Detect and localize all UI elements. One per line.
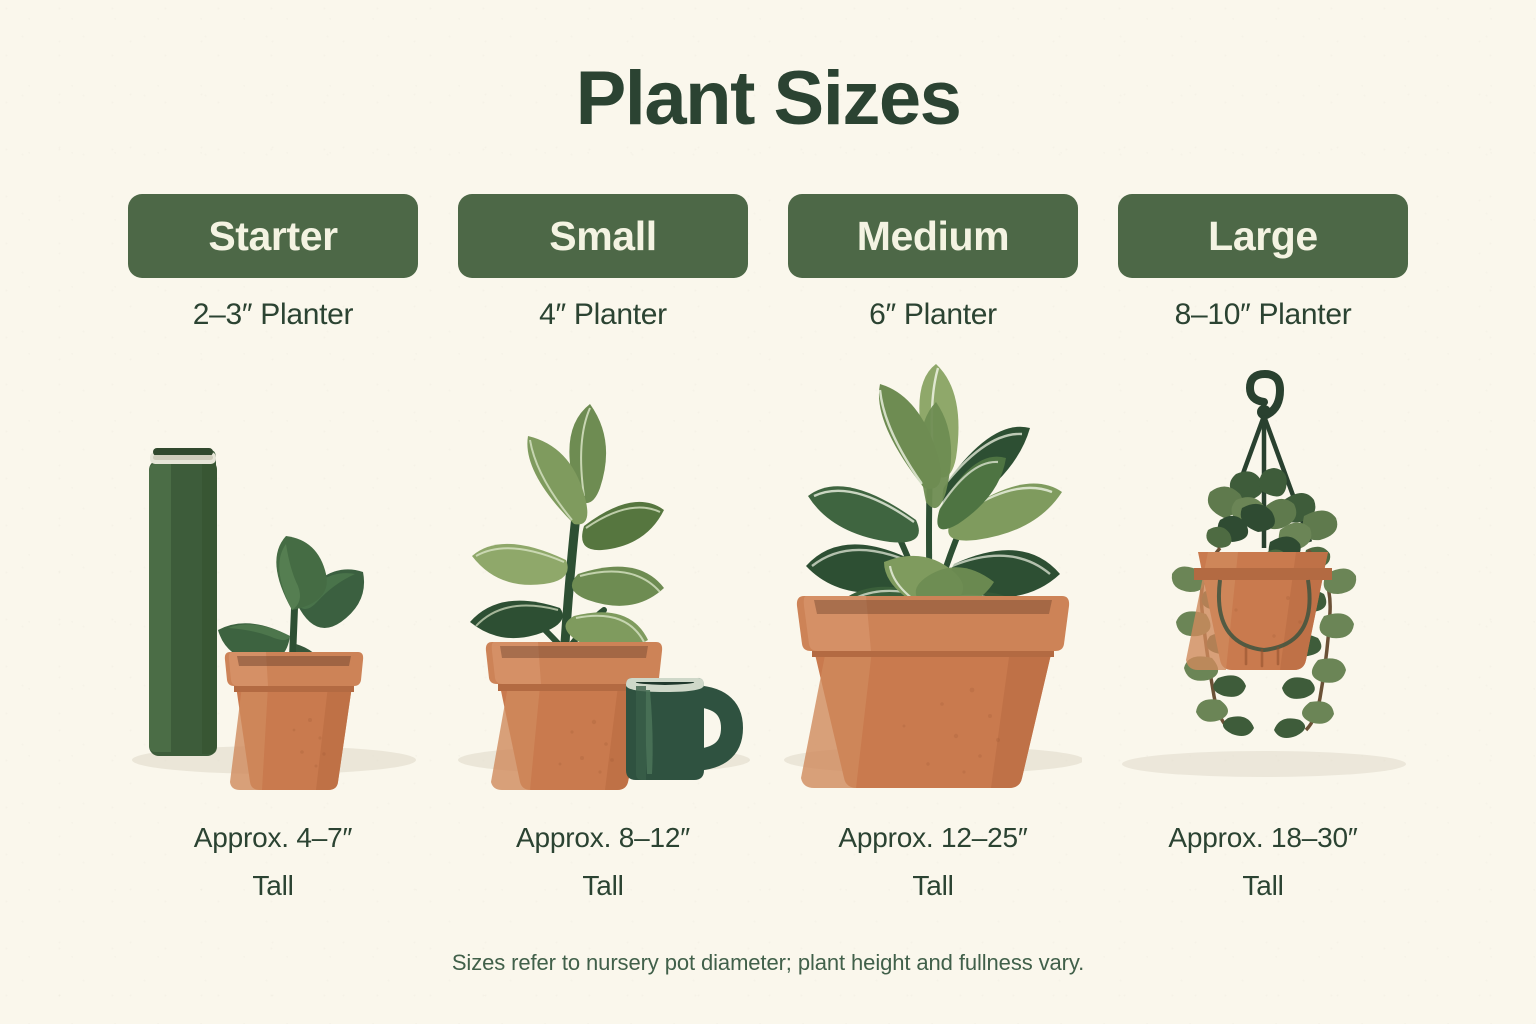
coffee-mug-icon <box>626 678 732 780</box>
leafy-plant-icon <box>470 404 664 676</box>
badge-medium[interactable]: Medium <box>788 194 1078 278</box>
size-column-medium: Medium 6″ Planter <box>788 194 1078 984</box>
illustration-soda-can-and-seedling-pot <box>124 360 422 790</box>
height-note-line-1: Approx. 18–30″ <box>1118 814 1408 862</box>
height-note-starter: Approx. 4–7″ Tall <box>128 814 418 910</box>
height-note-line-2: Tall <box>788 862 1078 910</box>
height-note-small: Approx. 8–12″ Tall <box>458 814 748 910</box>
seedling-plant-icon <box>218 536 364 790</box>
height-note-line-2: Tall <box>458 862 748 910</box>
illustration-large-potted-foliage-plant <box>784 360 1082 790</box>
badge-small[interactable]: Small <box>458 194 748 278</box>
badge-starter[interactable]: Starter <box>128 194 418 278</box>
height-note-line-1: Approx. 12–25″ <box>788 814 1078 862</box>
height-note-medium: Approx. 12–25″ Tall <box>788 814 1078 910</box>
soda-can-icon <box>149 448 217 756</box>
height-note-line-2: Tall <box>1118 862 1408 910</box>
planter-size-small: 4″ Planter <box>458 298 748 332</box>
size-columns: Starter 2–3″ Planter <box>128 194 1408 984</box>
size-column-large: Large 8–10″ Planter <box>1118 194 1408 984</box>
planter-size-large: 8–10″ Planter <box>1118 298 1408 332</box>
illustration-potted-leafy-plant-and-mug <box>454 360 752 790</box>
footnote: Sizes refer to nursery pot diameter; pla… <box>0 950 1536 976</box>
planter-size-starter: 2–3″ Planter <box>128 298 418 332</box>
ground-shadow <box>1122 751 1406 777</box>
height-note-large: Approx. 18–30″ Tall <box>1118 814 1408 910</box>
plant-sizes-infographic: Plant Sizes Starter 2–3″ Planter <box>0 0 1536 1024</box>
size-column-starter: Starter 2–3″ Planter <box>128 194 418 984</box>
height-note-line-1: Approx. 8–12″ <box>458 814 748 862</box>
height-note-line-2: Tall <box>128 862 418 910</box>
height-note-line-1: Approx. 4–7″ <box>128 814 418 862</box>
illustration-hanging-basket-trailing-vine <box>1114 360 1412 790</box>
size-column-small: Small 4″ Planter <box>458 194 748 984</box>
badge-large[interactable]: Large <box>1118 194 1408 278</box>
planter-size-medium: 6″ Planter <box>788 298 1078 332</box>
hanging-hook-icon <box>1250 374 1280 419</box>
page-title: Plant Sizes <box>0 55 1536 142</box>
